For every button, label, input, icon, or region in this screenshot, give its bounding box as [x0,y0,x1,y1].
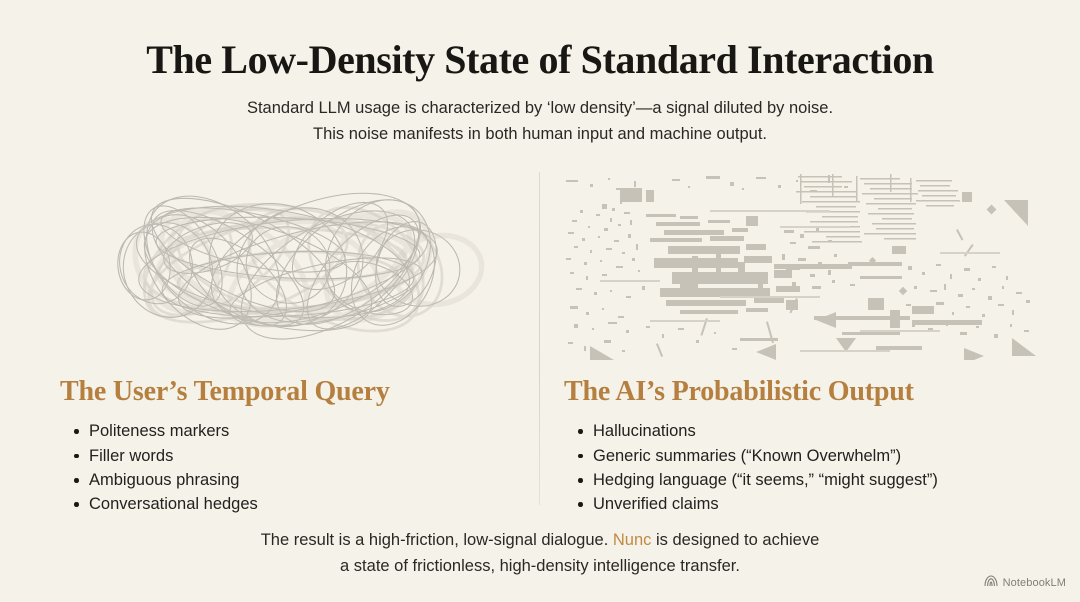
list-item: Ambiguous phrasing [74,469,528,492]
list-item: Unverified claims [578,493,1040,516]
digital-glitch-noise-graphic [560,170,1040,360]
glitch-svg [560,170,1040,360]
subtitle-line-1: Standard LLM usage is characterized by ‘… [0,96,1080,122]
notebooklm-watermark: NotebookLM [984,574,1066,592]
list-item: Filler words [74,445,528,468]
slide-canvas: The Low-Density State of Standard Intera… [0,0,1080,602]
list-item: Hallucinations [578,420,1040,443]
bullet-list-ai-output: Hallucinations Generic summaries (“Known… [560,420,1040,517]
slide-header: The Low-Density State of Standard Intera… [0,38,1080,147]
column-heading-user-query: The User’s Temporal Query [60,376,528,408]
brand-name-nunc: Nunc [613,531,652,549]
notebooklm-spiral-icon [984,574,998,592]
list-item: Conversational hedges [74,493,528,516]
column-ai-output: The AI’s Probabilistic Output Hallucinat… [560,170,1040,518]
column-divider [539,172,540,505]
footer-text-after-brand: is designed to achieve [651,531,819,549]
scribble-svg [48,170,528,360]
column-user-query: The User’s Temporal Query Politeness mar… [48,170,528,518]
tangled-scribble-loops-graphic [48,170,528,360]
footer-text-before-brand: The result is a high-friction, low-signa… [261,531,613,549]
page-subtitle: Standard LLM usage is characterized by ‘… [0,96,1080,147]
notebooklm-label: NotebookLM [1003,577,1066,589]
list-item: Politeness markers [74,420,528,443]
subtitle-line-2: This noise manifests in both human input… [0,122,1080,148]
list-item: Generic summaries (“Known Overwhelm”) [578,445,1040,468]
list-item: Hedging language (“it seems,” “might sug… [578,469,1040,492]
footer-line-2: a state of frictionless, high-density in… [0,554,1080,580]
bullet-list-user-query: Politeness markers Filler words Ambiguou… [48,420,528,517]
slide-footer: The result is a high-friction, low-signa… [0,528,1080,579]
column-heading-ai-output: The AI’s Probabilistic Output [564,376,1040,408]
footer-line-1: The result is a high-friction, low-signa… [0,528,1080,554]
page-title: The Low-Density State of Standard Intera… [0,38,1080,82]
